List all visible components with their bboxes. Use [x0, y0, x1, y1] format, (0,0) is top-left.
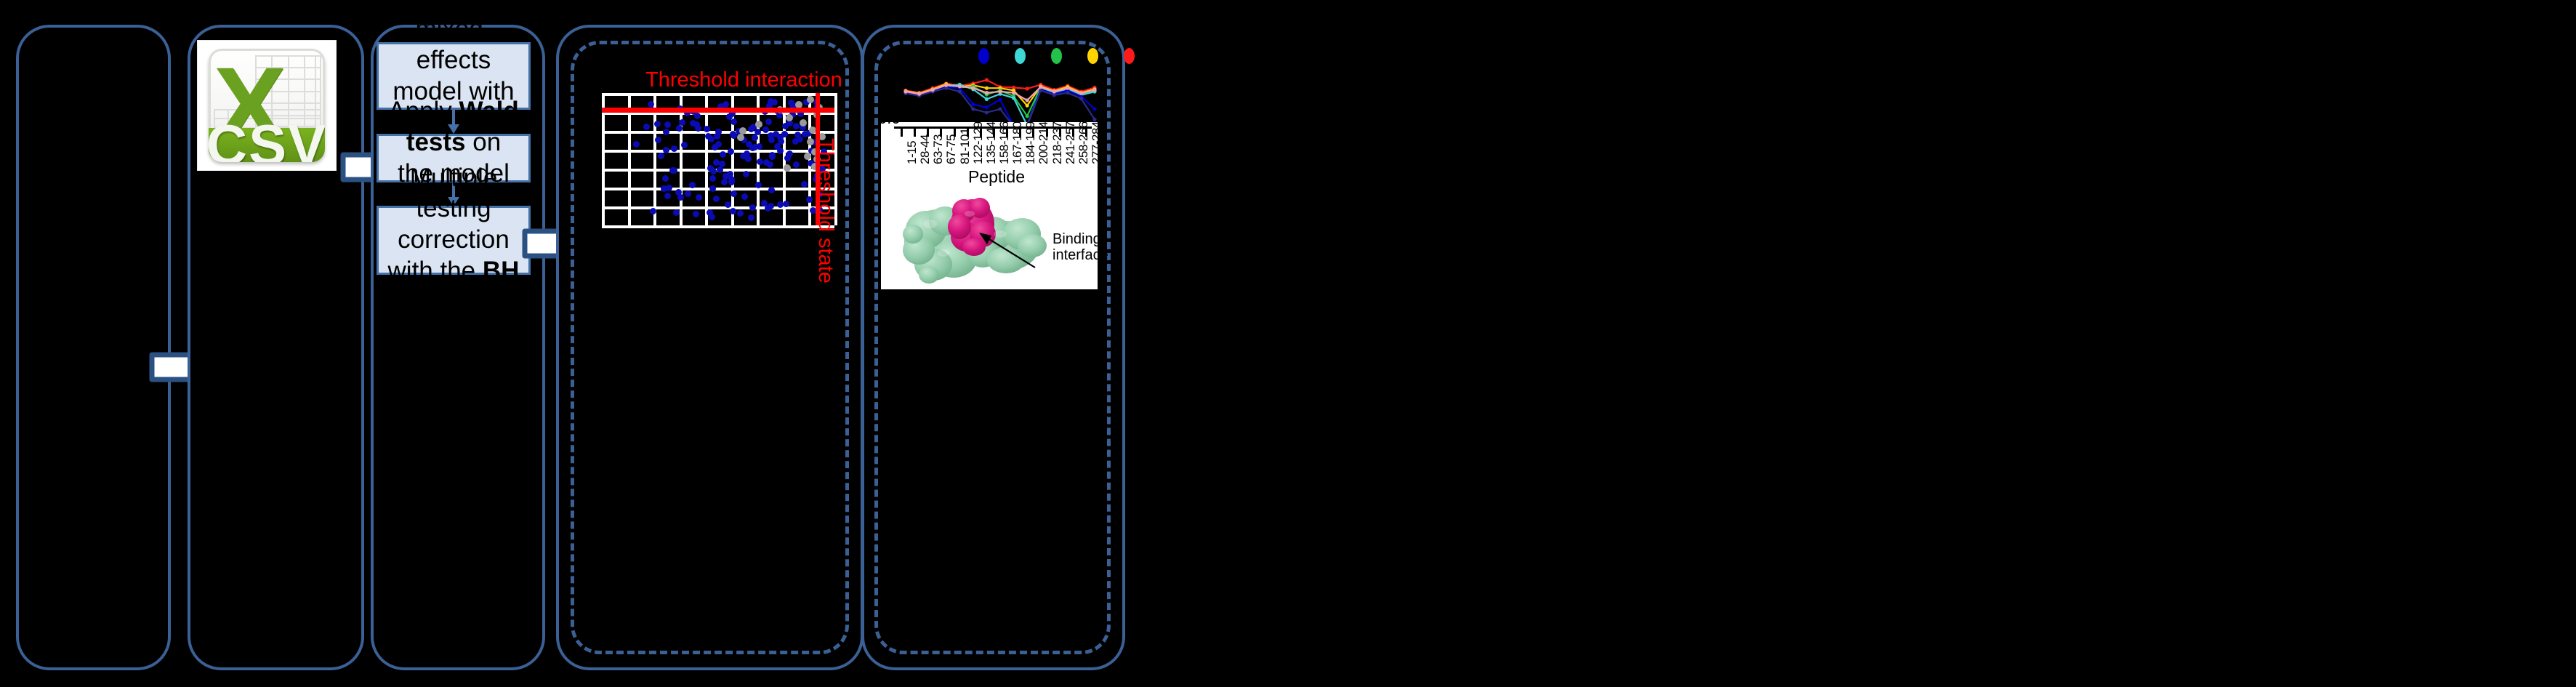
csv-label: CSV [209, 112, 325, 162]
scatter-point-significant [749, 204, 756, 211]
point-series-navy [1066, 91, 1069, 95]
point-series-navy [958, 89, 962, 93]
scatter-point-significant [693, 211, 699, 217]
scatter-point-significant [741, 193, 748, 200]
point-series-red [1026, 87, 1029, 90]
scatter-point-significant [709, 175, 716, 182]
point-series-pink [1012, 91, 1015, 95]
scatter-point-significant [673, 209, 680, 216]
scatter-point-significant [765, 205, 771, 212]
scatter-point-significant [696, 194, 702, 201]
excel-x-glyph: X [214, 51, 255, 110]
legend-dot-series-yellow [1087, 48, 1098, 64]
scatter-point-significant [663, 147, 669, 153]
point-series-cyan [1012, 96, 1015, 100]
point-series-pink [944, 84, 948, 87]
point-series-pink [903, 89, 907, 93]
scatter-point-significant [648, 101, 654, 108]
peptide-label: 241-257 [1063, 121, 1078, 164]
scatter-point-significant [801, 181, 808, 188]
scatter-point-significant [664, 121, 671, 128]
peptide-label: 67-75 [944, 134, 959, 164]
point-series-pink [998, 89, 1002, 93]
threshold-interaction-label: Threshold interaction [645, 68, 842, 92]
point-series-pink [931, 88, 935, 92]
point-series-green [1026, 114, 1029, 118]
scatter-point-significant [730, 190, 737, 197]
peptide-label: 277-284 [1090, 121, 1104, 164]
scatter-point-significant [717, 166, 723, 173]
scatter-point-nonsignificant [809, 126, 816, 134]
box-wald-pre: Apply [388, 97, 459, 125]
box-bh-bold: BH [483, 257, 520, 285]
scatter-point-significant [679, 119, 685, 126]
scatter-point-significant [663, 129, 669, 135]
point-series-pink [971, 87, 975, 90]
scatter-point-nonsignificant [737, 134, 744, 141]
box-bh-pre: with the [388, 257, 483, 285]
protein-surface-structure [897, 189, 1050, 285]
legend-dot-series-red [1124, 48, 1135, 64]
scatter-point-significant [643, 124, 650, 130]
scatter-point-significant [709, 185, 716, 192]
scatter-point-significant [743, 171, 749, 177]
scatter-point-nonsignificant [784, 164, 791, 172]
box-bh-post: procedure [396, 288, 511, 316]
peptide-label: 135-144 [984, 121, 999, 164]
box-wald-post: on [466, 128, 502, 156]
scatter-point-significant [730, 208, 736, 214]
legend-dot-series-cyan [1015, 48, 1026, 64]
scatter-plot [602, 93, 834, 225]
grid-line-h [602, 188, 834, 190]
scatter-point-significant [755, 182, 762, 188]
legend-dot-series-green [1051, 48, 1062, 64]
point-series-navy [998, 107, 1002, 111]
threshold-state-label: Threshold state [813, 138, 837, 284]
y-tick-zero: 0.0 [878, 109, 901, 128]
point-series-yellow [985, 87, 989, 90]
binding-line1: Binding [1052, 231, 1101, 247]
scatter-point-significant [765, 118, 772, 125]
scatter-point-significant [720, 151, 726, 158]
scatter-point-significant [752, 134, 758, 141]
scatter-point-significant [677, 194, 684, 201]
scatter-point-significant [748, 214, 754, 221]
peptide-line-chart [893, 64, 1103, 129]
scatter-point-significant [655, 137, 661, 143]
panel-input [16, 25, 171, 670]
scatter-point-significant [792, 138, 799, 145]
scatter-point-significant [728, 179, 735, 185]
binding-interface-annotation: Binding interface [1052, 231, 1108, 264]
point-series-pink [1039, 85, 1042, 89]
peptide-label: 218-237 [1050, 121, 1065, 164]
scatter-point-significant [793, 161, 800, 168]
peptide-label: 81-101 [958, 128, 973, 164]
scatter-point-significant [671, 167, 677, 174]
point-series-cyan [985, 97, 989, 101]
point-series-pink [1079, 92, 1083, 95]
csv-label-band: CSV [209, 128, 325, 162]
scatter-point-significant [725, 201, 731, 208]
point-series-navy [1079, 97, 1083, 100]
scatter-point-nonsignificant [786, 114, 793, 121]
peptide-label: 158-166 [997, 121, 1012, 164]
scatter-point-significant [769, 153, 776, 160]
scatter-point-significant [714, 133, 720, 140]
box-bh-line2: correction [398, 225, 510, 254]
scatter-point-significant [664, 193, 671, 199]
scatter-point-significant [633, 141, 640, 148]
peptide-label: 122-129 [971, 121, 986, 164]
box-multiple-testing: Multiple testing correction with the BH … [377, 206, 531, 275]
point-series-navy [971, 107, 975, 111]
scatter-point-significant [744, 150, 750, 157]
box-fit-model-line1: Fit a linear mixed- [394, 0, 512, 43]
scatter-point-significant [676, 125, 683, 132]
scatter-point-significant [689, 182, 696, 188]
point-series-pink [1052, 89, 1056, 93]
peptide-axis-title: Peptide [968, 167, 1025, 187]
scatter-point-significant [763, 159, 770, 166]
scatter-point-nonsignificant [807, 96, 814, 103]
point-series-pink [958, 84, 962, 88]
peptide-protein-card: 1-1528-4463-7367-7581-101122-129135-1441… [881, 122, 1098, 289]
scatter-point-significant [737, 210, 744, 217]
scatter-point-significant [777, 148, 784, 154]
point-series-red [985, 78, 989, 81]
scatter-point-significant [704, 126, 710, 132]
point-series-pink [985, 91, 989, 95]
peptide-tick [914, 126, 916, 137]
scatter-point-significant [786, 150, 793, 157]
point-series-pink [1092, 88, 1096, 92]
grid-line-h [602, 150, 834, 153]
point-series-pink [1066, 87, 1069, 90]
box-bh-line1: Multiple testing [410, 164, 498, 223]
point-series-yellow [1026, 104, 1029, 108]
scatter-point-significant [768, 187, 775, 193]
scatter-point-significant [730, 132, 737, 139]
point-series-pink [917, 92, 921, 96]
legend-dot-series-blue [978, 48, 989, 64]
point-series-navy [985, 111, 989, 114]
scatter-point-significant [713, 196, 720, 202]
point-series-navy [1052, 93, 1056, 97]
point-series-blue [985, 105, 989, 109]
threshold-interaction-line [602, 108, 834, 113]
scatter-point-significant [685, 190, 691, 197]
point-series-blue [971, 103, 975, 106]
scatter-point-significant [662, 175, 669, 182]
scatter-point-significant [707, 165, 714, 172]
csv-file-icon: X CSV [198, 41, 336, 170]
scatter-point-significant [654, 121, 661, 127]
scatter-point-significant [781, 131, 788, 137]
figure-canvas: X CSV Fit a linear mixed- effects model … [0, 0, 2576, 687]
scatter-point-significant [748, 126, 754, 132]
point-series-pink [1026, 98, 1029, 102]
point-series-blue [1092, 107, 1096, 111]
binding-line2: interface [1052, 247, 1108, 263]
scatter-point-significant [762, 126, 769, 133]
peptide-label: 258-266 [1076, 121, 1091, 164]
scatter-point-significant [658, 153, 664, 159]
point-series-blue [998, 98, 1002, 102]
grid-line-h [602, 93, 834, 96]
scatter-point-significant [806, 196, 813, 203]
scatter-point-significant [681, 142, 688, 148]
scatter-point-significant [768, 132, 774, 139]
peptide-label: 200-214 [1037, 121, 1051, 164]
scatter-point-nonsignificant [755, 121, 762, 128]
scatter-point-significant [757, 158, 763, 165]
scatter-point-significant [793, 123, 800, 129]
scatter-point-significant [721, 179, 728, 185]
grid-line-h [602, 225, 834, 228]
peptide-tick [901, 126, 903, 137]
grid-line-h [602, 206, 834, 209]
